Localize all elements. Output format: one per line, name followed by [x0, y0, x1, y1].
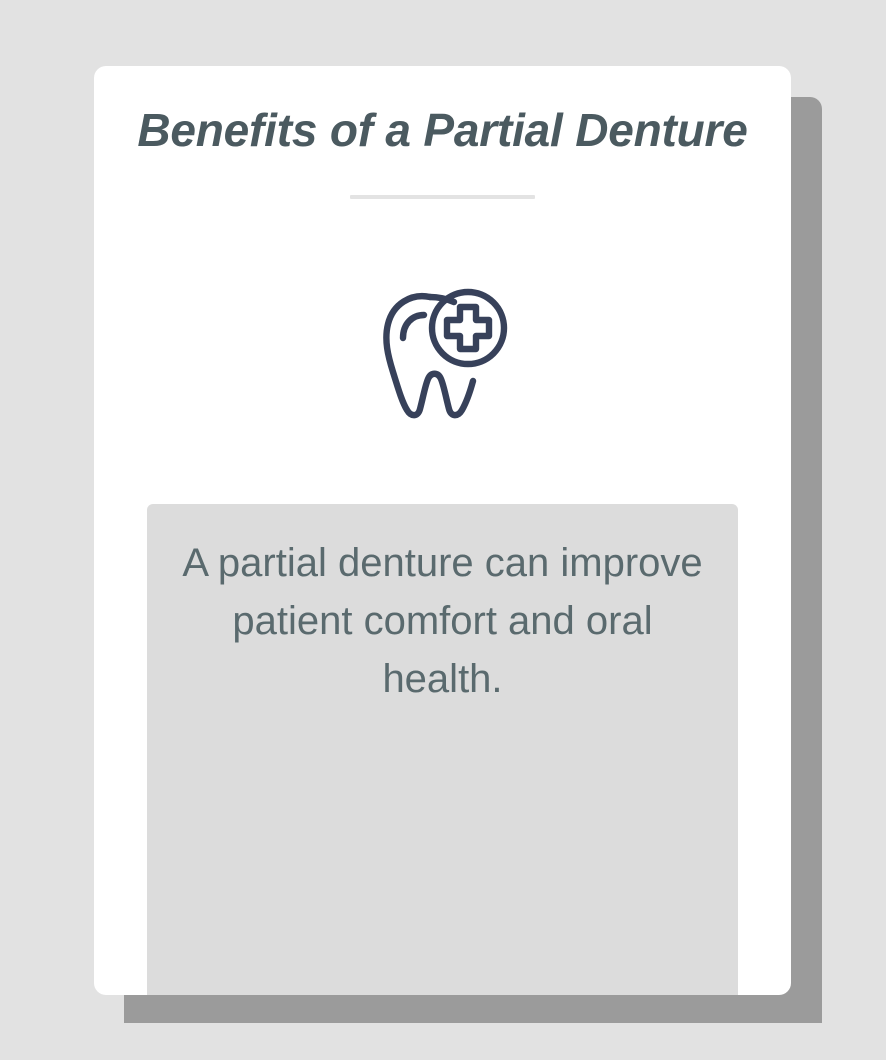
body-text: A partial denture can improve patient co… [177, 534, 708, 708]
body-text-panel: A partial denture can improve patient co… [147, 504, 738, 995]
page-title: Benefits of a Partial Denture [94, 106, 791, 156]
tooth-with-medical-cross-badge-icon [94, 272, 791, 432]
content-card: Benefits of a Partial Denture [94, 66, 791, 995]
slide-stage: Benefits of a Partial Denture [0, 0, 886, 1060]
tooth-icon-svg [367, 276, 519, 428]
title-divider [350, 195, 535, 199]
